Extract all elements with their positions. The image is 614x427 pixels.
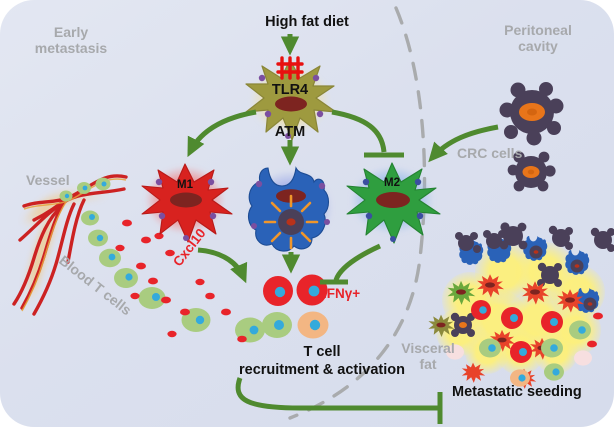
figure-canvas: Early metastasis Peritoneal cavity Vesse… bbox=[0, 0, 614, 427]
label-tlr4: TLR4 bbox=[245, 82, 335, 99]
engulfed-crc-cell bbox=[265, 196, 317, 248]
label-ifng-positive: IFNγ+ bbox=[323, 286, 360, 302]
label-peritoneal-cavity: Peritoneal cavity bbox=[478, 22, 598, 54]
label-m1: M1 bbox=[160, 179, 210, 192]
label-early-metastasis: Early metastasis bbox=[16, 24, 126, 56]
label-atm: ATM bbox=[250, 124, 330, 141]
label-t-cell-outcome-line2: recruitment & activation bbox=[212, 362, 432, 379]
label-vessel: Vessel bbox=[26, 172, 96, 188]
label-crc-cells: CRC cells bbox=[457, 145, 553, 161]
label-metastatic-seeding: Metastatic seeding bbox=[452, 384, 612, 401]
label-m2: M2 bbox=[367, 177, 417, 190]
label-high-fat-diet: High fat diet bbox=[232, 14, 382, 31]
tlr4-receptor-icon bbox=[278, 58, 302, 78]
label-t-cell-outcome-line1: T cell bbox=[232, 344, 412, 361]
